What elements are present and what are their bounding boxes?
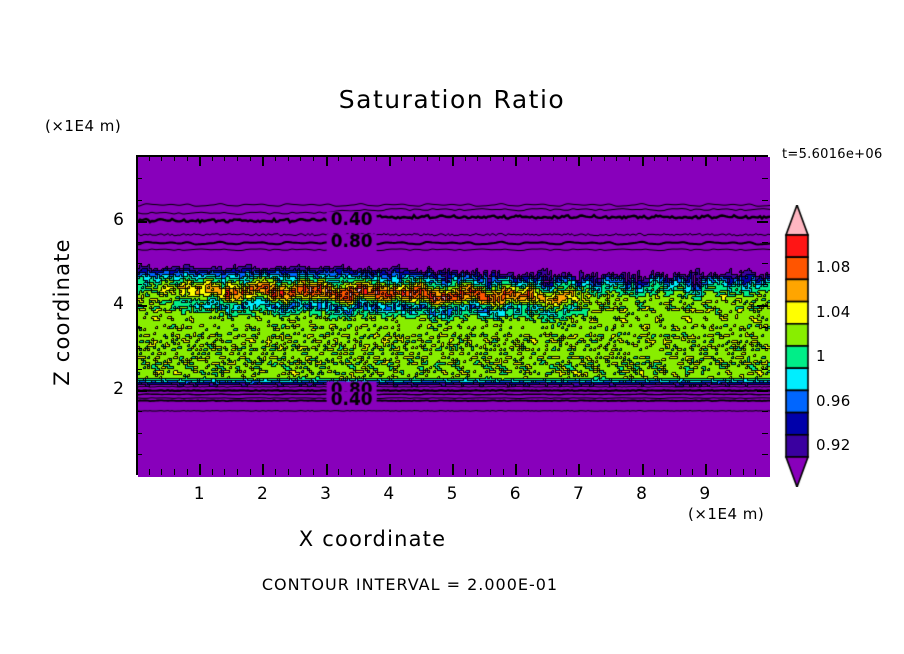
axis-tick xyxy=(376,469,377,475)
axis-tick xyxy=(591,469,592,475)
axis-tick xyxy=(762,200,768,201)
x-tick-label: 6 xyxy=(495,484,535,504)
axis-tick xyxy=(136,200,142,201)
axis-tick xyxy=(300,155,301,161)
contour-plot-area xyxy=(136,155,768,475)
colorbar-tick-label: 1.04 xyxy=(816,303,851,321)
axis-tick xyxy=(161,469,162,475)
axis-tick xyxy=(174,155,175,161)
axis-tick xyxy=(401,469,402,475)
axis-tick xyxy=(654,155,655,161)
axis-tick xyxy=(224,469,225,475)
x-tick-label: 2 xyxy=(242,484,282,504)
chart-title: Saturation Ratio xyxy=(0,85,904,114)
axis-tick xyxy=(136,411,142,412)
axis-tick xyxy=(642,464,644,475)
axis-tick xyxy=(515,155,517,166)
axis-tick xyxy=(136,221,147,223)
axis-tick xyxy=(136,284,142,285)
axis-tick xyxy=(578,464,580,475)
x-tick-label: 9 xyxy=(685,484,725,504)
axis-tick xyxy=(136,263,142,264)
axis-tick xyxy=(288,155,289,161)
axis-tick xyxy=(553,155,554,161)
axis-tick xyxy=(300,469,301,475)
x-tick-label: 7 xyxy=(558,484,598,504)
axis-tick xyxy=(237,155,238,161)
axis-tick xyxy=(212,155,213,161)
axis-tick xyxy=(136,242,142,243)
axis-tick xyxy=(762,284,768,285)
axis-tick xyxy=(250,469,251,475)
axis-tick xyxy=(616,469,617,475)
axis-tick xyxy=(262,464,264,475)
axis-tick xyxy=(490,469,491,475)
contour-field-canvas xyxy=(138,157,770,477)
axis-tick xyxy=(338,469,339,475)
x-tick-label: 4 xyxy=(369,484,409,504)
x-tick-label: 5 xyxy=(432,484,472,504)
axis-tick xyxy=(553,469,554,475)
x-axis-label: X coordinate xyxy=(0,527,745,551)
y-tick-label: 4 xyxy=(84,294,124,314)
axis-tick xyxy=(566,155,567,161)
colorbar xyxy=(784,205,810,487)
axis-tick xyxy=(364,469,365,475)
axis-tick xyxy=(717,155,718,161)
axis-tick xyxy=(136,178,142,179)
axis-tick xyxy=(427,155,428,161)
axis-tick xyxy=(212,469,213,475)
axis-tick xyxy=(288,469,289,475)
axis-tick xyxy=(503,155,504,161)
axis-tick xyxy=(149,469,150,475)
axis-tick xyxy=(250,155,251,161)
axis-tick xyxy=(762,242,768,243)
axis-tick xyxy=(199,464,201,475)
axis-tick xyxy=(629,469,630,475)
axis-tick xyxy=(654,469,655,475)
axis-tick xyxy=(757,390,768,392)
axis-tick xyxy=(477,469,478,475)
axis-tick xyxy=(439,155,440,161)
axis-tick xyxy=(762,369,768,370)
axis-tick xyxy=(692,469,693,475)
axis-tick xyxy=(389,155,391,166)
axis-tick xyxy=(616,155,617,161)
axis-tick xyxy=(237,469,238,475)
axis-tick xyxy=(351,469,352,475)
axis-tick xyxy=(680,155,681,161)
axis-tick xyxy=(275,155,276,161)
axis-tick xyxy=(401,155,402,161)
axis-tick xyxy=(338,155,339,161)
axis-tick xyxy=(705,464,707,475)
axis-tick xyxy=(667,155,668,161)
axis-tick xyxy=(755,155,756,161)
axis-tick xyxy=(465,469,466,475)
axis-tick xyxy=(439,469,440,475)
axis-tick xyxy=(743,155,744,161)
axis-tick xyxy=(757,221,768,223)
axis-tick xyxy=(136,305,147,307)
axis-tick xyxy=(187,155,188,161)
axis-tick xyxy=(414,155,415,161)
axis-tick xyxy=(762,411,768,412)
axis-tick xyxy=(755,469,756,475)
axis-tick xyxy=(326,464,328,475)
axis-tick xyxy=(136,348,142,349)
axis-tick xyxy=(566,469,567,475)
colorbar-tick-label: 0.92 xyxy=(816,436,851,454)
axis-tick xyxy=(326,155,328,166)
axis-tick xyxy=(313,469,314,475)
axis-tick xyxy=(717,469,718,475)
axis-tick xyxy=(136,327,142,328)
time-annotation: t=5.6016e+06 xyxy=(782,147,883,162)
x-axis-unit-label: (×1E4 m) xyxy=(688,505,764,523)
axis-tick xyxy=(528,469,529,475)
colorbar-tick-label: 0.96 xyxy=(816,392,851,410)
axis-tick xyxy=(161,155,162,161)
x-tick-label: 1 xyxy=(179,484,219,504)
axis-tick xyxy=(540,155,541,161)
axis-tick xyxy=(692,155,693,161)
axis-tick xyxy=(414,469,415,475)
axis-tick xyxy=(465,155,466,161)
axis-tick xyxy=(490,155,491,161)
axis-tick xyxy=(762,178,768,179)
axis-tick xyxy=(262,155,264,166)
axis-tick xyxy=(762,454,768,455)
axis-tick xyxy=(389,464,391,475)
axis-tick xyxy=(705,155,707,166)
axis-tick xyxy=(136,369,142,370)
axis-tick xyxy=(136,390,147,392)
axis-tick xyxy=(136,454,142,455)
axis-tick xyxy=(762,327,768,328)
z-axis-unit-label: (×1E4 m) xyxy=(45,117,121,135)
axis-tick xyxy=(313,155,314,161)
axis-tick xyxy=(604,469,605,475)
axis-tick xyxy=(591,155,592,161)
axis-tick xyxy=(604,155,605,161)
axis-tick xyxy=(730,155,731,161)
axis-tick xyxy=(667,469,668,475)
axis-tick xyxy=(730,469,731,475)
axis-tick xyxy=(757,305,768,307)
axis-tick xyxy=(477,155,478,161)
axis-tick xyxy=(762,433,768,434)
axis-tick xyxy=(642,155,644,166)
axis-tick xyxy=(275,469,276,475)
axis-tick xyxy=(452,155,454,166)
axis-tick xyxy=(762,263,768,264)
axis-tick xyxy=(224,155,225,161)
axis-tick xyxy=(762,348,768,349)
axis-tick xyxy=(187,469,188,475)
axis-tick xyxy=(540,469,541,475)
axis-tick xyxy=(174,469,175,475)
axis-tick xyxy=(427,469,428,475)
axis-tick xyxy=(629,155,630,161)
axis-tick xyxy=(503,469,504,475)
axis-tick xyxy=(452,464,454,475)
y-axis-label: Z coordinate xyxy=(50,202,74,422)
y-tick-label: 2 xyxy=(84,379,124,399)
x-tick-label: 3 xyxy=(306,484,346,504)
axis-tick xyxy=(136,433,142,434)
x-tick-label: 8 xyxy=(622,484,662,504)
axis-tick xyxy=(578,155,580,166)
colorbar-tick-label: 1 xyxy=(816,347,826,365)
axis-tick xyxy=(364,155,365,161)
y-tick-label: 6 xyxy=(84,210,124,230)
contour-interval-caption: CONTOUR INTERVAL = 2.000E-01 xyxy=(0,575,820,594)
axis-tick xyxy=(149,155,150,161)
colorbar-tick-label: 1.08 xyxy=(816,258,851,276)
axis-tick xyxy=(680,469,681,475)
axis-tick xyxy=(376,155,377,161)
axis-tick xyxy=(351,155,352,161)
axis-tick xyxy=(743,469,744,475)
axis-tick xyxy=(515,464,517,475)
axis-tick xyxy=(199,155,201,166)
axis-tick xyxy=(528,155,529,161)
